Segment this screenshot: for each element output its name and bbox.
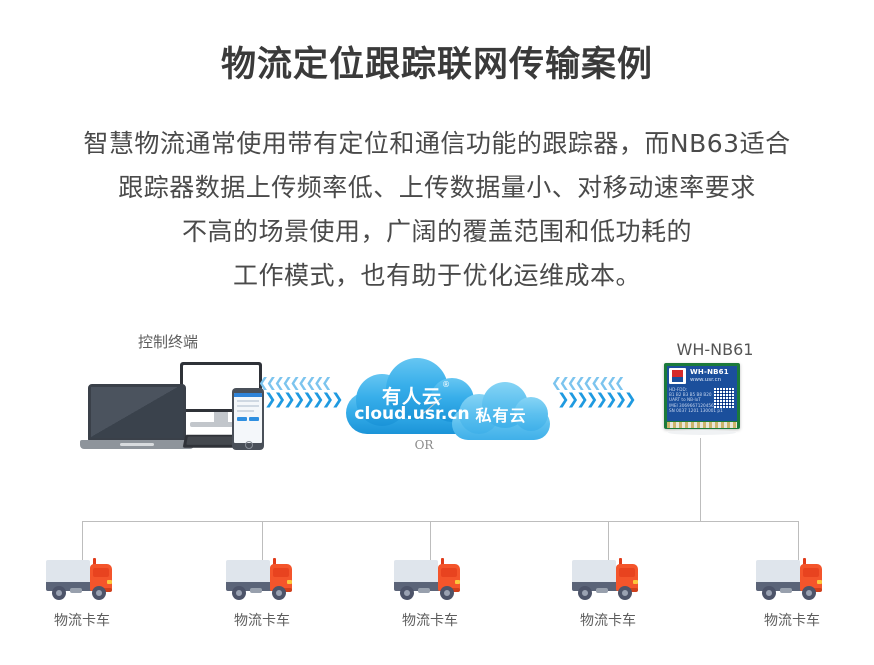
truck-wheel <box>618 586 632 600</box>
control-terminal-label: 控制终端 <box>108 331 228 352</box>
description-line-2: 跟踪器数据上传频率低、上传数据量小、对移动速率要求 <box>0 166 874 210</box>
smartphone-app-buttons <box>237 417 259 421</box>
smartphone-home-button <box>245 441 253 449</box>
flow-arrow-right-row: ❯ ❯ ❯ ❯ ❯ ❯ ❯ ❯ <box>557 392 634 407</box>
truck-fuel-tank <box>250 588 262 593</box>
laptop-screen <box>91 387 183 438</box>
truck-wheel <box>578 586 592 600</box>
description-line-3: 不高的场景使用，广阔的覆盖范围和低功耗的 <box>0 210 874 254</box>
truck-hub <box>56 590 62 596</box>
truck-wheel <box>232 586 246 600</box>
truck-cargo-box <box>46 560 90 582</box>
truck-fuel-tank <box>70 588 82 593</box>
nb61-module-image: WH-NB61 www.usr.cn HD-FDD: B1 B2 B3 B5 B… <box>664 363 740 429</box>
chevron-left-icon: ❮ <box>614 377 625 390</box>
truck-wheel <box>400 586 414 600</box>
truck-cargo-box <box>394 560 438 582</box>
description-block: 智慧物流通常使用带有定位和通信功能的跟踪器，而NB63适合 跟踪器数据上传频率低… <box>0 122 874 298</box>
truck-window <box>619 568 635 577</box>
truck-cargo-box <box>756 560 800 582</box>
smartphone-app-line <box>237 410 254 412</box>
truck-label: 物流卡车 <box>732 610 852 630</box>
truck-fuel-tank <box>780 588 792 593</box>
chevron-right-icon: ❯ <box>624 392 637 407</box>
truck-wheel <box>272 586 286 600</box>
or-label: OR <box>404 438 444 452</box>
truck-fuel-tank <box>596 588 608 593</box>
truck-icon <box>756 558 830 600</box>
truck-headlight <box>287 580 292 584</box>
truck-window <box>803 568 819 577</box>
smartphone-app-button <box>249 417 259 421</box>
truck-wheel <box>802 586 816 600</box>
module-riser-line <box>700 438 701 522</box>
truck-window <box>93 568 109 577</box>
truck-hub <box>444 590 450 596</box>
truck-headlight <box>817 580 822 584</box>
truck-hub <box>404 590 410 596</box>
module-pin-pads <box>667 422 737 428</box>
module-shadow <box>668 430 736 435</box>
truck-hub <box>622 590 628 596</box>
truck-headlight <box>455 580 460 584</box>
flow-arrow-right-row: ❯ ❯ ❯ ❯ ❯ ❯ ❯ ❯ <box>264 392 341 407</box>
module-pcb: WH-NB61 www.usr.cn HD-FDD: B1 B2 B3 B5 B… <box>667 366 737 421</box>
truck-cargo-box <box>572 560 616 582</box>
truck-cargo-box <box>226 560 270 582</box>
truck-hub <box>276 590 282 596</box>
truck-icon <box>572 558 646 600</box>
laptop-trackpad <box>120 443 154 446</box>
flow-arrow-left-row: ❮ ❮ ❮ ❮ ❮ ❮ ❮ ❮ ❮ <box>258 377 341 390</box>
flow-arrows-left: ❮ ❮ ❮ ❮ ❮ ❮ ❮ ❮ ❮ ❯ ❯ ❯ ❯ ❯ ❯ ❯ ❯ <box>258 377 341 407</box>
truck-window <box>273 568 289 577</box>
chevron-right-icon: ❯ <box>331 392 344 407</box>
private-cloud-name: 私有云 <box>452 402 550 426</box>
bus-line <box>82 521 798 522</box>
truck-label: 物流卡车 <box>202 610 322 630</box>
module-pcb-url: www.usr.cn <box>690 377 721 383</box>
truck-hub <box>96 590 102 596</box>
truck-hub <box>766 590 772 596</box>
truck-headlight <box>107 580 112 584</box>
truck-hub <box>806 590 812 596</box>
truck-window <box>441 568 457 577</box>
smartphone-app-line <box>237 400 259 402</box>
module-pcb-name: WH-NB61 <box>690 368 729 376</box>
truck-icon <box>394 558 468 600</box>
flow-arrows-right: ❮ ❮ ❮ ❮ ❮ ❮ ❮ ❮ ❮ ❯ ❯ ❯ ❯ ❯ ❯ ❯ ❯ <box>551 377 634 407</box>
truck-hub <box>236 590 242 596</box>
smartphone-app-line <box>237 405 259 407</box>
qr-code-icon <box>714 388 734 408</box>
truck-wheel <box>440 586 454 600</box>
truck-icon <box>226 558 300 600</box>
truck-label: 物流卡车 <box>548 610 668 630</box>
control-terminal-devices <box>80 362 262 450</box>
laptop-icon <box>88 384 186 441</box>
module-spec-line: SN 0037 1201 130001 p1 <box>669 408 723 413</box>
truck-headlight <box>633 580 638 584</box>
description-line-1: 智慧物流通常使用带有定位和通信功能的跟踪器，而NB63适合 <box>0 122 874 166</box>
truck-label: 物流卡车 <box>22 610 142 630</box>
registered-mark-icon: ® <box>442 380 450 389</box>
usr-logo-top <box>672 370 683 377</box>
truck-hub <box>582 590 588 596</box>
truck-label: 物流卡车 <box>370 610 490 630</box>
poster-canvas: 物流定位跟踪联网传输案例 智慧物流通常使用带有定位和通信功能的跟踪器，而NB63… <box>0 0 874 665</box>
usr-logo-bottom <box>672 377 683 382</box>
usr-logo-icon <box>669 368 686 384</box>
flow-arrow-left-row: ❮ ❮ ❮ ❮ ❮ ❮ ❮ ❮ ❮ <box>551 377 634 390</box>
smartphone-app-button <box>237 417 247 421</box>
truck-icon <box>46 558 120 600</box>
description-line-4: 工作模式，也有助于优化运维成本。 <box>0 254 874 298</box>
truck-wheel <box>762 586 776 600</box>
truck-wheel <box>92 586 106 600</box>
module-label: WH-NB61 <box>635 340 795 359</box>
truck-fuel-tank <box>418 588 430 593</box>
page-title: 物流定位跟踪联网传输案例 <box>0 36 874 87</box>
chevron-left-icon: ❮ <box>321 377 332 390</box>
truck-wheel <box>52 586 66 600</box>
